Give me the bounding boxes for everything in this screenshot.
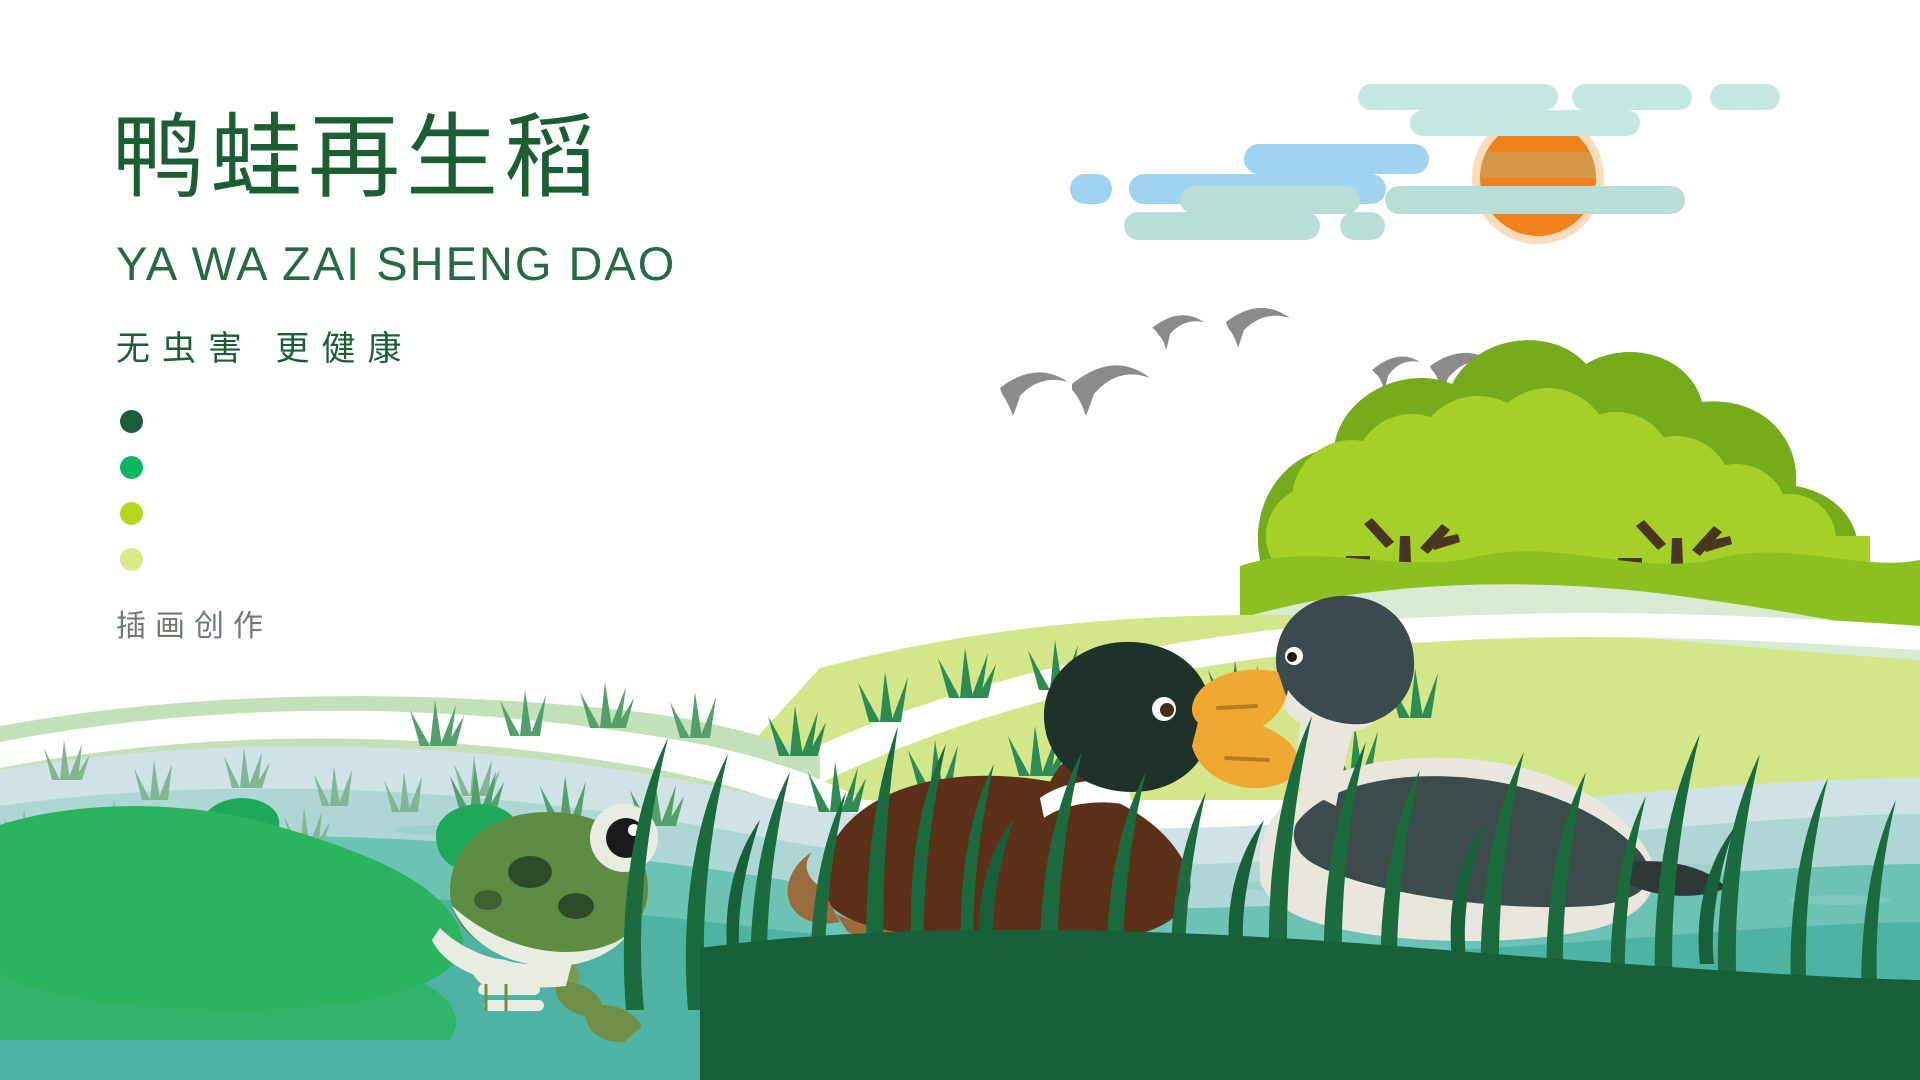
cloud-mint-lower xyxy=(1124,186,1685,240)
palette-dot-list xyxy=(120,410,143,594)
page-title: 鸭蛙再生稻 xyxy=(112,112,602,204)
palette-dot-1 xyxy=(120,410,143,433)
palette-dot-3 xyxy=(120,502,143,525)
slogan-text: 无虫害 更健康 xyxy=(116,332,413,366)
credit-text: 插画创作 xyxy=(116,612,272,642)
cloud-mint-upper xyxy=(1358,84,1780,136)
poster-canvas: 鸭蛙再生稻 YA WA ZAI SHENG DAO 无虫害 更健康 插画创作 xyxy=(0,0,1920,1080)
palette-dot-4 xyxy=(120,548,143,571)
palette-dot-2 xyxy=(120,456,143,479)
title-pinyin: YA WA ZAI SHENG DAO xyxy=(116,240,676,287)
